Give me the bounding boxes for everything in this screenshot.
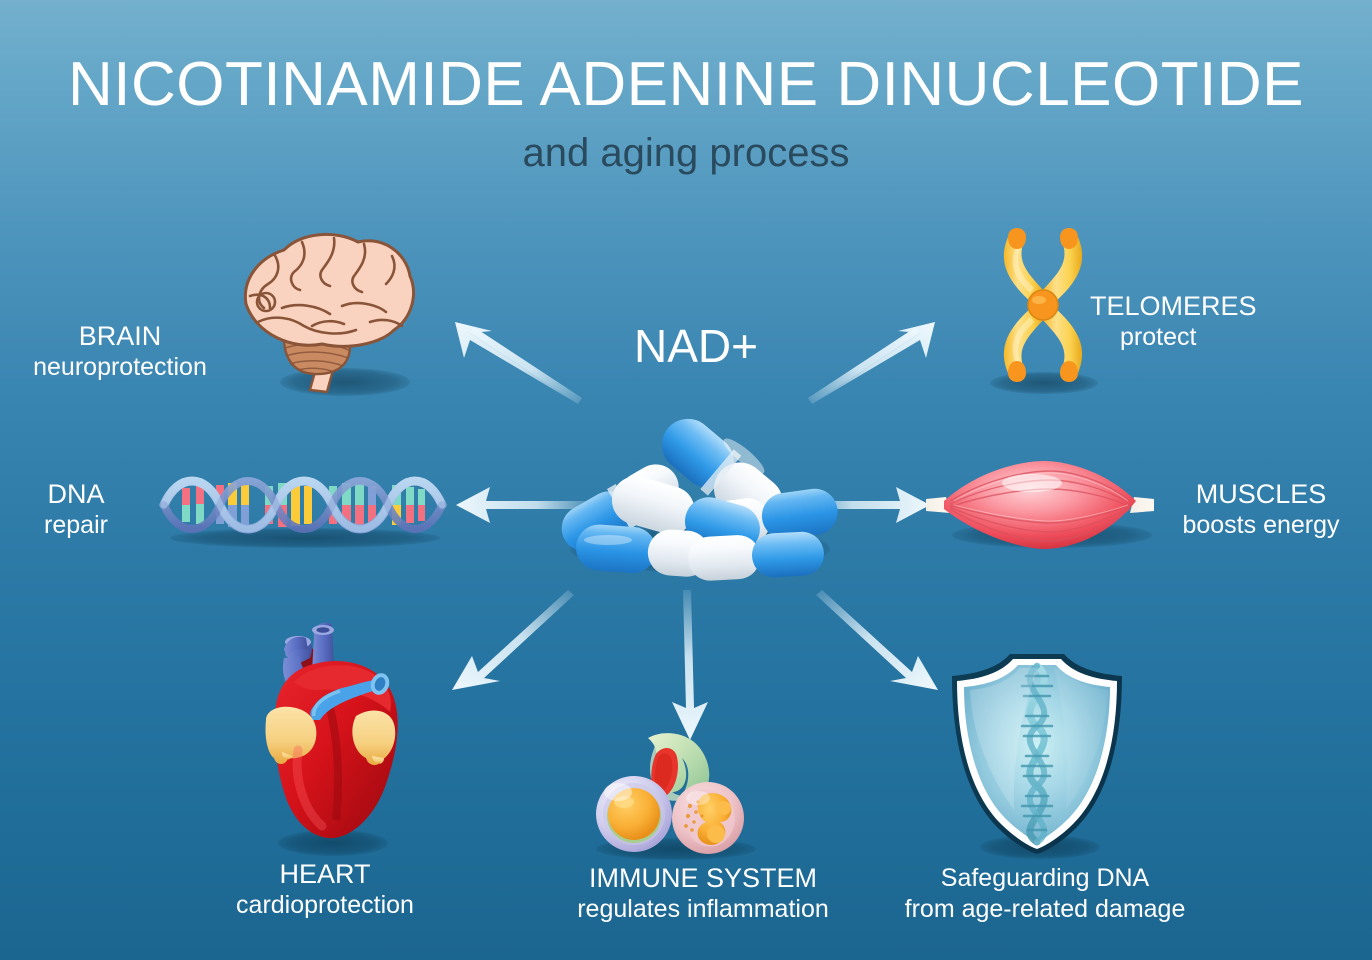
muscle-icon: [920, 455, 1160, 555]
capsules-pills-icon: [548, 398, 848, 583]
node-label-heart: HEART cardioprotection: [200, 858, 450, 921]
immune-title: IMMUNE SYSTEM: [518, 862, 888, 894]
page-subtitle: and aging process: [0, 130, 1372, 176]
telomeres-subtitle: protect: [1090, 322, 1370, 353]
dna-title: DNA: [0, 478, 152, 510]
arrow-down-left: [452, 590, 574, 690]
node-label-brain: BRAIN neuroprotection: [0, 320, 240, 383]
arrow-down-right: [816, 590, 938, 690]
dna-subtitle: repair: [0, 510, 152, 541]
muscles-title: MUSCLES: [1150, 478, 1372, 510]
arrow-down: [672, 590, 708, 740]
dna-double-helix-icon: [160, 455, 450, 555]
immune-subtitle: regulates inflammation: [518, 894, 888, 925]
node-label-dna: DNA repair: [0, 478, 152, 541]
page-title: NICOTINAMIDE ADENINE DINUCLEOTIDE: [0, 52, 1372, 118]
brain-icon: [222, 222, 432, 397]
node-label-immune: IMMUNE SYSTEM regulates inflammation: [518, 862, 888, 925]
infographic-canvas: NICOTINAMIDE ADENINE DINUCLEOTIDE and ag…: [0, 0, 1372, 960]
brain-title: BRAIN: [0, 320, 240, 352]
heart-anatomical-icon: [238, 620, 428, 860]
telomeres-title: TELOMERES: [1090, 290, 1370, 322]
shield-dna-icon: [942, 640, 1132, 860]
shield-subtitle: from age-related damage: [870, 894, 1220, 925]
node-label-muscles: MUSCLES boosts energy: [1150, 478, 1372, 541]
center-label-nad-plus: NAD+: [546, 320, 846, 372]
heart-subtitle: cardioprotection: [200, 890, 450, 921]
immune-cells-icon: [586, 730, 766, 860]
shield-title: Safeguarding DNA: [870, 862, 1220, 894]
chromosome-telomere-icon: [978, 215, 1108, 395]
heart-title: HEART: [200, 858, 450, 890]
node-label-shield: Safeguarding DNA from age-related damage: [870, 862, 1220, 925]
brain-subtitle: neuroprotection: [0, 352, 240, 383]
node-label-telomeres: TELOMERES protect: [1090, 290, 1370, 353]
muscles-subtitle: boosts energy: [1150, 510, 1372, 541]
